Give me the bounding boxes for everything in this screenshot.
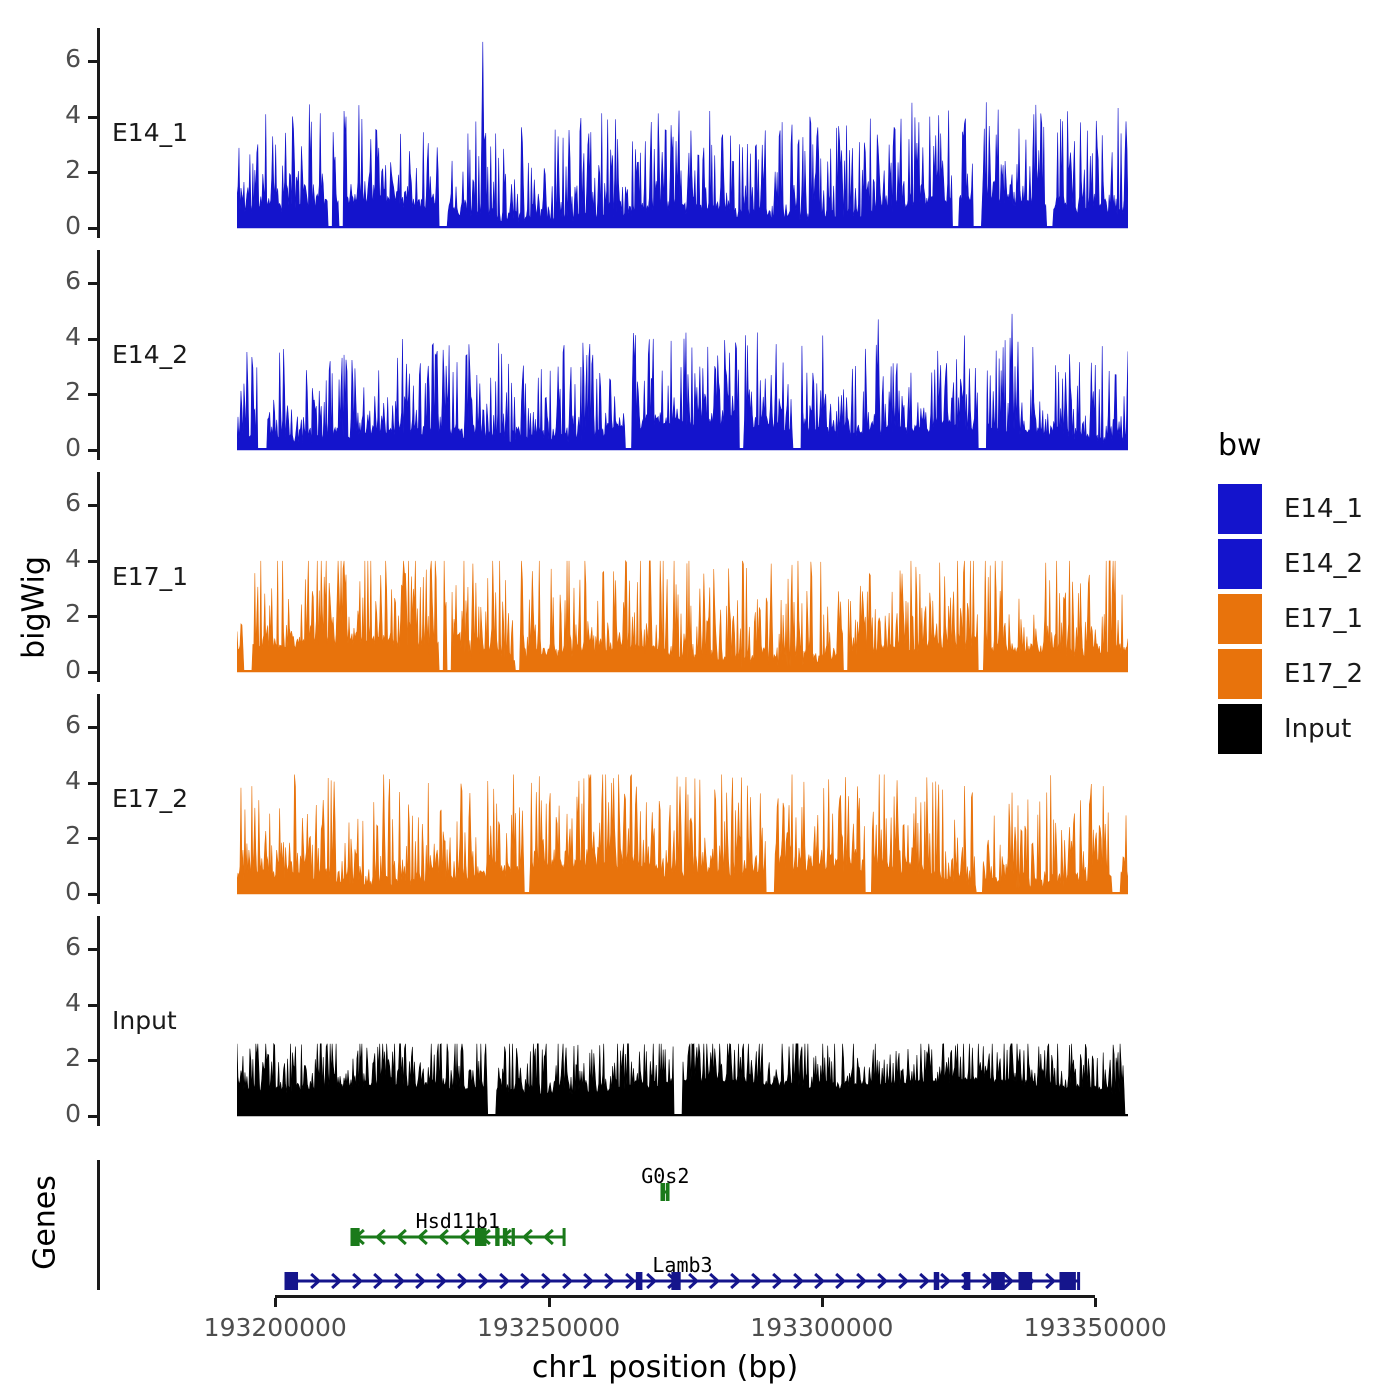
legend-item-e17_2[interactable]: E17_2: [1218, 646, 1363, 701]
legend-item-e14_2[interactable]: E14_2: [1218, 536, 1363, 591]
x-axis: 193200000193250000193300000193350000: [0, 0, 1400, 1400]
legend-label: E14_1: [1284, 494, 1363, 524]
legend-label: Input: [1284, 714, 1351, 744]
x-tick-label: 193350000: [975, 1313, 1215, 1342]
legend-item-e17_1[interactable]: E17_1: [1218, 591, 1363, 646]
legend-swatch: [1218, 539, 1262, 589]
legend-item-e14_1[interactable]: E14_1: [1218, 481, 1363, 536]
legend-item-input[interactable]: Input: [1218, 701, 1363, 756]
legend-label: E17_2: [1284, 659, 1363, 689]
legend-items: E14_1E14_2E17_1E17_2Input: [1218, 481, 1363, 756]
legend: bw E14_1E14_2E17_1E17_2Input: [1218, 428, 1363, 756]
x-tick-label: 193200000: [155, 1313, 395, 1342]
x-tick-label: 193300000: [702, 1313, 942, 1342]
legend-swatch: [1218, 484, 1262, 534]
legend-swatch: [1218, 594, 1262, 644]
x-tick-label: 193250000: [429, 1313, 669, 1342]
legend-swatch: [1218, 649, 1262, 699]
legend-label: E17_1: [1284, 604, 1363, 634]
x-tick: [548, 1298, 551, 1307]
x-tick: [274, 1298, 277, 1307]
legend-title: bw: [1218, 428, 1363, 463]
x-tick: [1094, 1298, 1097, 1307]
x-axis-title: chr1 position (bp): [100, 1350, 1230, 1385]
legend-swatch: [1218, 704, 1262, 754]
x-axis-line: [275, 1295, 1095, 1298]
legend-label: E14_2: [1284, 549, 1363, 579]
x-tick: [821, 1298, 824, 1307]
